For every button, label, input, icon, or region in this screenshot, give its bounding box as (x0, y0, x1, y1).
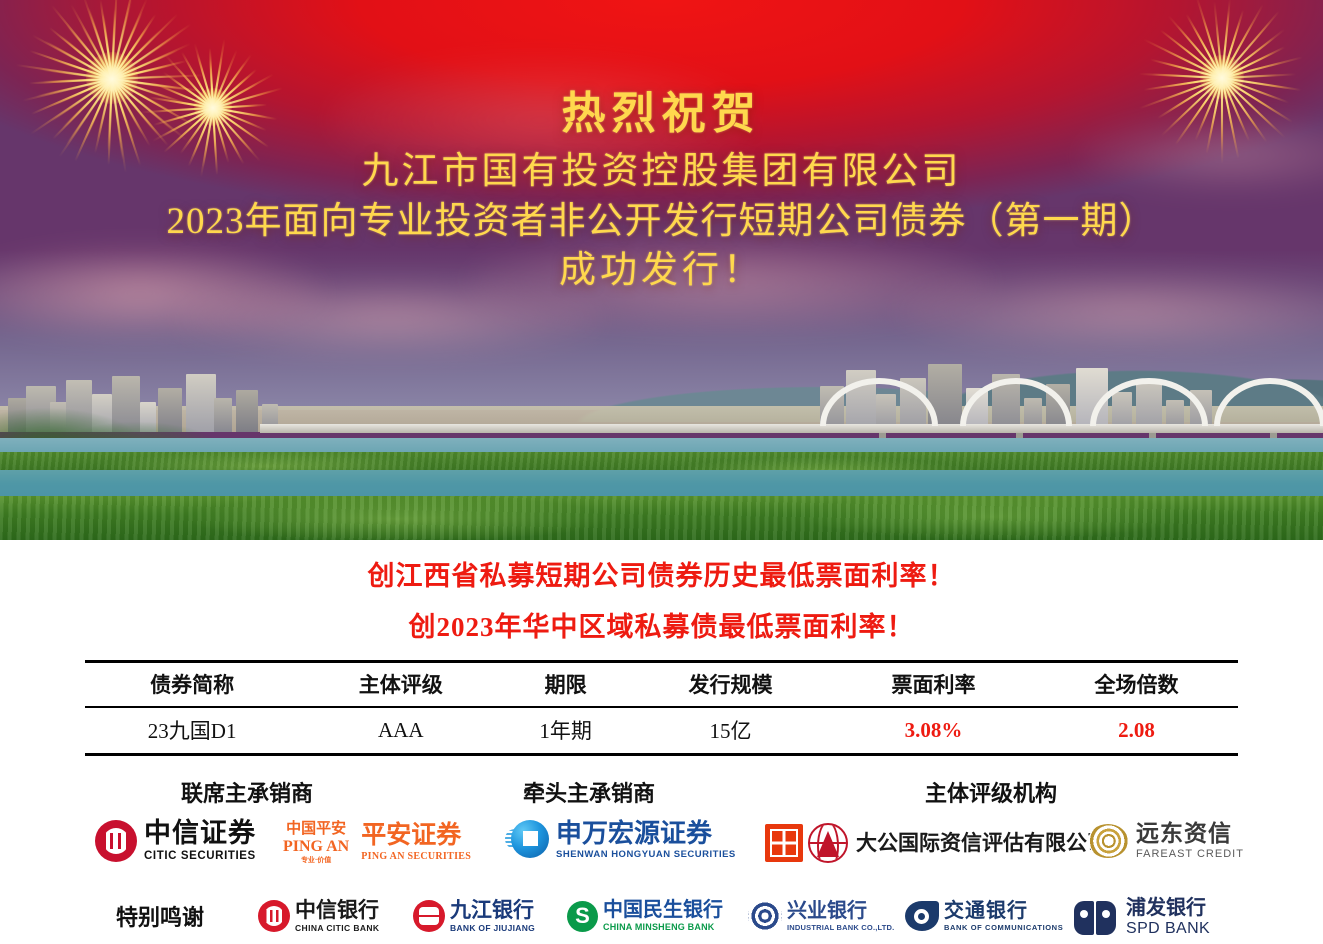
section-title-lead-underwriter: 牵头主承销商 (523, 776, 655, 808)
wetland-band-lower (0, 496, 1323, 540)
ping-an-group-name-en: PING AN (283, 839, 349, 855)
citic-securities-icon (95, 820, 137, 862)
china-minsheng-bank-icon (567, 901, 598, 932)
cell-coupon-rate: 3.08% (832, 707, 1035, 755)
cell-issue-size: 15亿 (629, 707, 832, 755)
shenwan-hongyuan-name-cn: 申万宏源证券 (556, 820, 736, 846)
bank-of-jiujiang-icon (413, 900, 445, 932)
logo-fareast-credit: 远东资信 FAREAST CREDIT (1088, 822, 1244, 860)
bank-of-jiujiang-wordmark: 九江银行 BANK OF JIUJIANG (450, 900, 535, 933)
bank-of-communications-wordmark: 交通银行 BANK OF COMMUNICATIONS (944, 901, 1063, 932)
spd-bank-icon-hole-right (1102, 910, 1110, 918)
industrial-bank-icon (748, 901, 782, 931)
column-header-bond-name: 债券简称 (85, 662, 299, 708)
special-thanks-row: 特别鸣谢 中信银行 CHINA CITIC BANK 九江银行 BANK OF … (0, 892, 1323, 944)
china-citic-bank-icon (258, 900, 290, 932)
ping-an-group-icon: 中国平安 PING AN 专业·价值 (283, 822, 349, 864)
bank-of-jiujiang-name-en: BANK OF JIUJIANG (450, 924, 535, 933)
industrial-bank-name-en: INDUSTRIAL BANK CO.,LTD. (787, 924, 894, 932)
table-header: 债券简称 主体评级 期限 发行规模 票面利率 全场倍数 (85, 662, 1238, 708)
spd-bank-name-cn: 浦发银行 (1126, 898, 1210, 918)
special-thanks-label: 特别鸣谢 (116, 900, 204, 932)
logo-china-minsheng-bank: 中国民生银行 CHINA MINSHENG BANK (567, 900, 723, 932)
china-citic-bank-name-en: CHINA CITIC BANK (295, 924, 379, 933)
firework-burst (141, 35, 285, 179)
cell-subscription-multiple: 2.08 (1035, 707, 1238, 755)
logo-citic-securities: 中信证券 CITIC SECURITIES (95, 820, 256, 863)
content-panel: 创江西省私募短期公司债券历史最低票面利率！ 创2023年华中区域私募债最低票面利… (0, 540, 1323, 912)
building (236, 390, 258, 432)
logo-bank-of-jiujiang: 九江银行 BANK OF JIUJIANG (413, 900, 535, 933)
logo-china-citic-bank: 中信银行 CHINA CITIC BANK (258, 900, 379, 933)
table-row: 23九国D1 AAA 1年期 15亿 3.08% 2.08 (85, 707, 1238, 755)
cell-bond-name: 23九国D1 (85, 707, 299, 755)
citic-securities-wordmark: 中信证券 CITIC SECURITIES (144, 820, 256, 863)
fareast-credit-name-en: FAREAST CREDIT (1136, 849, 1244, 860)
dagong-seal-icon (765, 824, 803, 862)
citic-securities-name-cn: 中信证券 (144, 820, 256, 847)
logo-industrial-bank: 兴业银行 INDUSTRIAL BANK CO.,LTD. (748, 901, 894, 932)
industrial-bank-name-cn: 兴业银行 (787, 901, 894, 921)
china-minsheng-bank-wordmark: 中国民生银行 CHINA MINSHENG BANK (603, 900, 723, 932)
ping-an-securities-name-cn: 平安证券 (361, 823, 471, 849)
ping-an-slogan: 专业·价值 (301, 857, 331, 864)
ping-an-securities-name-en: PING AN SECURITIES (361, 852, 471, 863)
ping-an-group-name-cn: 中国平安 (286, 822, 346, 837)
cell-issuer-rating: AAA (299, 707, 502, 755)
firework-ray (1221, 78, 1223, 164)
column-header-coupon-rate: 票面利率 (832, 662, 1035, 708)
table-body: 23九国D1 AAA 1年期 15亿 3.08% 2.08 (85, 707, 1238, 755)
bank-of-communications-icon (905, 901, 939, 931)
spd-bank-icon (1074, 901, 1118, 935)
spd-bank-wordmark: 浦发银行 SPD BANK (1126, 898, 1210, 937)
spd-bank-name-en: SPD BANK (1126, 921, 1210, 937)
logo-shenwan-hongyuan-securities: 申万宏源证券 SHENWAN HONGYUAN SECURITIES (505, 820, 736, 860)
china-citic-bank-wordmark: 中信银行 CHINA CITIC BANK (295, 900, 379, 933)
logo-spd-bank: 浦发银行 SPD BANK (1074, 898, 1210, 937)
hero-banner: 热烈祝贺 九江市国有投资控股集团有限公司 2023年面向专业投资者非公开发行短期… (0, 0, 1323, 540)
shenwan-hongyuan-icon (505, 820, 549, 860)
citic-securities-name-en: CITIC SECURITIES (144, 851, 256, 863)
bank-of-communications-name-cn: 交通银行 (944, 901, 1063, 921)
dagong-globe-icon (808, 823, 848, 863)
industrial-bank-wordmark: 兴业银行 INDUSTRIAL BANK CO.,LTD. (787, 901, 894, 932)
column-header-subscription-multiple: 全场倍数 (1035, 662, 1238, 708)
fareast-credit-wordmark: 远东资信 FAREAST CREDIT (1136, 822, 1244, 860)
column-header-issuer-rating: 主体评级 (299, 662, 502, 708)
dagong-globe-icon-mark (817, 831, 839, 857)
achievement-line-2: 创2023年华中区域私募债最低票面利率！ (0, 605, 1323, 644)
china-citic-bank-name-cn: 中信银行 (295, 900, 379, 921)
section-title-rating-agency: 主体评级机构 (925, 776, 1057, 808)
spd-bank-icon-d (1096, 901, 1116, 935)
cell-tenor: 1年期 (502, 707, 629, 755)
china-minsheng-bank-name-en: CHINA MINSHENG BANK (603, 923, 723, 932)
spd-bank-icon-p (1074, 901, 1094, 935)
shenwan-hongyuan-name-en: SHENWAN HONGYUAN SECURITIES (556, 850, 736, 860)
partner-logo-row: 中信证券 CITIC SECURITIES 中国平安 PING AN 专业·价值… (0, 814, 1323, 874)
achievement-line-1: 创江西省私募短期公司债券历史最低票面利率！ (0, 554, 1323, 593)
bank-of-communications-name-en: BANK OF COMMUNICATIONS (944, 924, 1063, 932)
shenwan-hongyuan-icon-square (523, 831, 538, 846)
bond-details-table: 债券简称 主体评级 期限 发行规模 票面利率 全场倍数 23九国D1 AAA 1… (85, 660, 1238, 756)
china-minsheng-bank-name-cn: 中国民生银行 (603, 900, 723, 920)
fareast-credit-name-cn: 远东资信 (1136, 822, 1244, 845)
bank-of-jiujiang-name-cn: 九江银行 (450, 900, 535, 921)
bond-table-wrapper: 债券简称 主体评级 期限 发行规模 票面利率 全场倍数 23九国D1 AAA 1… (85, 660, 1238, 756)
column-header-tenor: 期限 (502, 662, 629, 708)
logo-bank-of-communications: 交通银行 BANK OF COMMUNICATIONS (905, 901, 1063, 932)
logo-dagong-international: 大公国际资信评估有限公司 (765, 823, 1108, 863)
spd-bank-icon-hole-left (1080, 910, 1088, 918)
cloud (330, 60, 750, 180)
table-header-row: 债券简称 主体评级 期限 发行规模 票面利率 全场倍数 (85, 662, 1238, 708)
shenwan-hongyuan-wordmark: 申万宏源证券 SHENWAN HONGYUAN SECURITIES (556, 820, 736, 860)
section-title-row: 联席主承销商 牵头主承销商 主体评级机构 (85, 776, 1238, 806)
ping-an-securities-wordmark: 平安证券 PING AN SECURITIES (361, 823, 471, 863)
logo-ping-an-securities: 中国平安 PING AN 专业·价值 平安证券 PING AN SECURITI… (283, 822, 471, 864)
fareast-credit-icon (1088, 824, 1128, 858)
dagong-name-cn: 大公国际资信评估有限公司 (856, 833, 1108, 854)
column-header-issue-size: 发行规模 (629, 662, 832, 708)
section-title-joint-lead: 联席主承销商 (181, 776, 313, 808)
